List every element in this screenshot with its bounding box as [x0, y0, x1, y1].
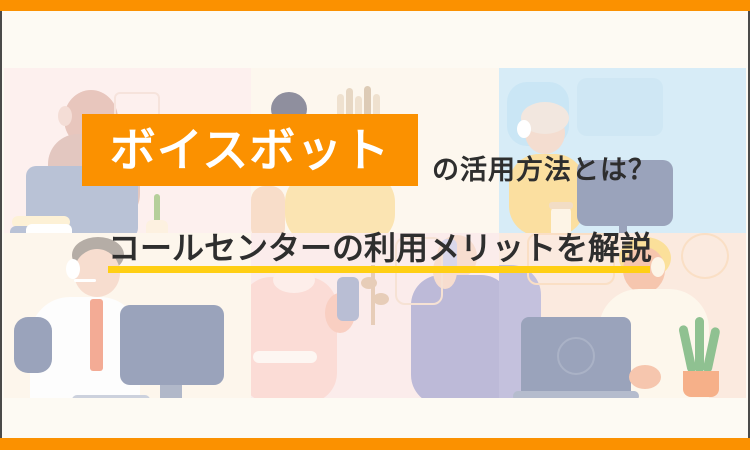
plant-leaf-mid	[695, 317, 704, 373]
headset-ear-icon	[66, 259, 80, 279]
laptop-base	[513, 391, 639, 398]
plant-leaf-b	[373, 293, 389, 305]
headline-highlight-text: ボイスボット	[110, 127, 391, 173]
woman-hand	[629, 365, 661, 389]
necktie	[90, 299, 103, 371]
headline-tail-text: の活用方法とは？	[432, 148, 656, 187]
chair-back	[251, 186, 285, 233]
plant-pot	[683, 371, 719, 397]
smartphone-icon	[337, 277, 359, 321]
subheadline-underline	[108, 266, 650, 273]
monitor-screen	[120, 305, 224, 385]
banner-canvas: ボイスボット の活用方法とは？ コールセンターの利用メリットを解説	[0, 0, 750, 450]
bottom-accent-bar	[0, 438, 750, 450]
subheadline-text: コールセンターの利用メリットを解説	[108, 232, 652, 266]
laptop-logo-icon	[557, 337, 595, 375]
paper-sheet	[26, 224, 72, 233]
wall-panel	[577, 78, 663, 136]
headline-highlight-box: ボイスボット	[82, 114, 418, 186]
left-person-body	[251, 277, 337, 398]
monitor-stand	[160, 385, 182, 398]
left-person-sleeve-band	[253, 351, 317, 363]
headset-ear-icon	[517, 120, 531, 138]
chair-back	[14, 317, 52, 373]
hex-decoration	[681, 233, 729, 279]
keyboard	[72, 395, 150, 398]
subheadline-group: コールセンターの利用メリットを解説	[108, 232, 652, 266]
left-edge-rule	[0, 11, 2, 438]
headset-ear-icon	[58, 106, 72, 126]
headset-ear-icon	[651, 257, 665, 277]
top-accent-bar	[0, 0, 750, 11]
coffee-cup-lid	[549, 202, 573, 209]
headset-mic	[74, 279, 96, 282]
